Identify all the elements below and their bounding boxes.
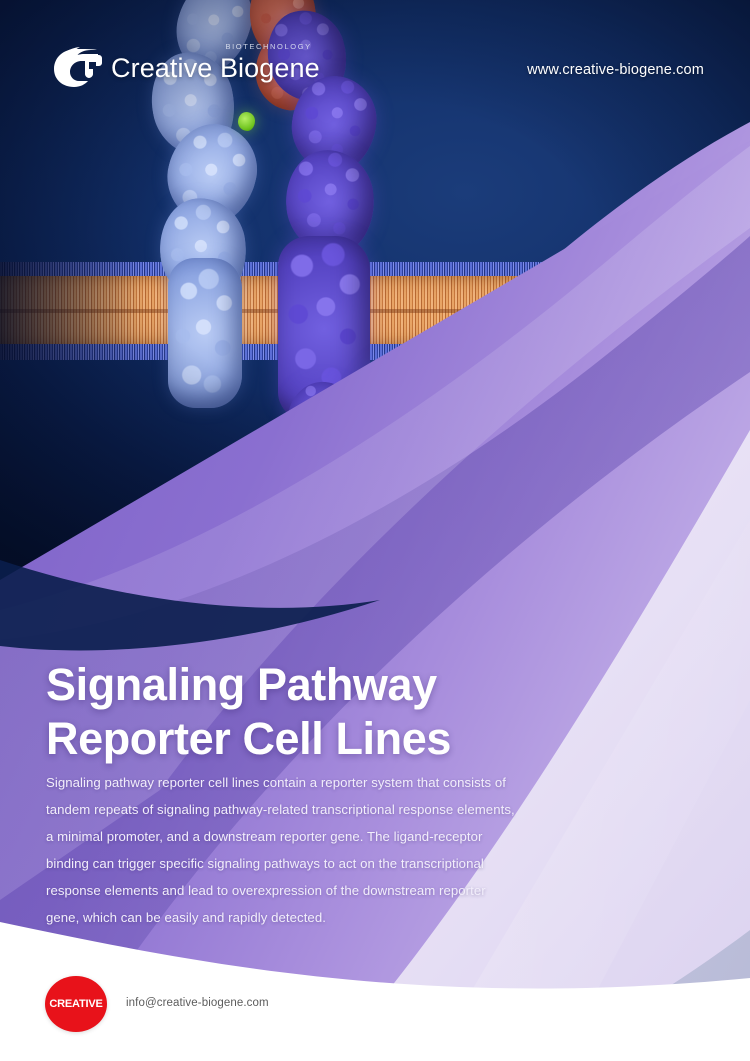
creative-circle-badge: CREATIVE — [45, 976, 107, 1032]
creative-biogene-g-mark-icon — [50, 46, 102, 90]
page-title: Signaling Pathway Reporter Cell Lines — [46, 658, 606, 765]
intro-paragraph: Signaling pathway reporter cell lines co… — [46, 770, 516, 932]
poster-page: BIOTECHNOLOGY Creative Biogene www.creat… — [0, 0, 750, 1061]
brand-tagline: BIOTECHNOLOGY — [226, 42, 312, 51]
contact-email[interactable]: info@creative-biogene.com — [126, 997, 269, 1009]
website-url[interactable]: www.creative-biogene.com — [527, 62, 704, 78]
brand-name: Creative Biogene — [111, 55, 320, 82]
brand-text-block: BIOTECHNOLOGY Creative Biogene — [111, 55, 320, 82]
page-title-line1: Signaling Pathway — [46, 659, 437, 710]
brand-lockup[interactable]: BIOTECHNOLOGY Creative Biogene — [50, 46, 320, 90]
creative-badge-label: CREATIVE — [49, 998, 102, 1010]
page-title-line2: Reporter Cell Lines — [46, 712, 606, 766]
